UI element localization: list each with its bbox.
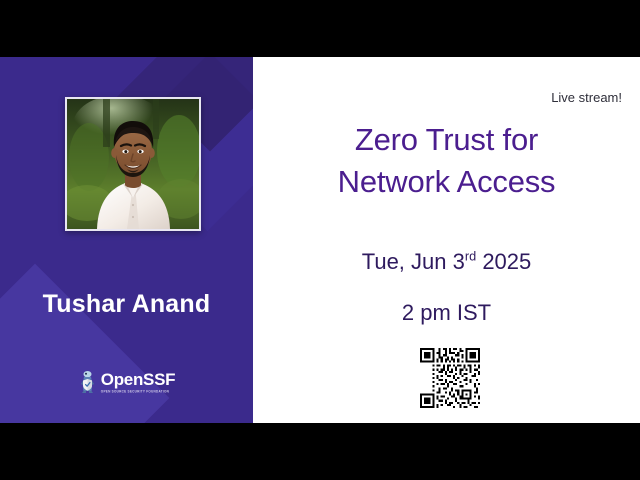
openssf-wordmark-group: OpenSSF OPEN SOURCE SECURITY FOUNDATION	[101, 371, 175, 393]
openssf-mascot-icon	[78, 370, 97, 394]
event-time: 2 pm IST	[253, 300, 640, 326]
speaker-panel: Tushar Anand	[0, 57, 253, 423]
talk-title-line-1: Zero Trust for	[253, 119, 640, 161]
talk-title-line-2: Network Access	[253, 161, 640, 203]
openssf-wordmark: OpenSSF	[101, 371, 175, 388]
speaker-name: Tushar Anand	[0, 290, 253, 319]
event-date-year: 2025	[476, 249, 531, 274]
talk-details-panel: Live stream! Zero Trust for Network Acce…	[253, 57, 640, 423]
letterbox-bar-bottom	[0, 423, 640, 480]
background-wedge	[0, 264, 169, 423]
qr-code-icon	[420, 348, 480, 408]
talk-title: Zero Trust for Network Access	[253, 119, 640, 203]
speaker-photo	[67, 99, 199, 229]
openssf-logo: OpenSSF OPEN SOURCE SECURITY FOUNDATION	[0, 370, 253, 394]
video-frame: Tushar Anand	[0, 0, 640, 480]
live-stream-label: Live stream!	[551, 90, 622, 105]
letterbox-bar-top	[0, 0, 640, 57]
event-date: Tue, Jun 3rd 2025	[253, 249, 640, 275]
event-date-ordinal: rd	[465, 249, 476, 264]
qr-code[interactable]	[420, 348, 480, 408]
event-date-text: Tue, Jun 3	[362, 249, 465, 274]
openssf-tagline: OPEN SOURCE SECURITY FOUNDATION	[101, 390, 169, 394]
presentation-slide: Tushar Anand	[0, 57, 640, 423]
speaker-photo-frame	[65, 97, 201, 231]
